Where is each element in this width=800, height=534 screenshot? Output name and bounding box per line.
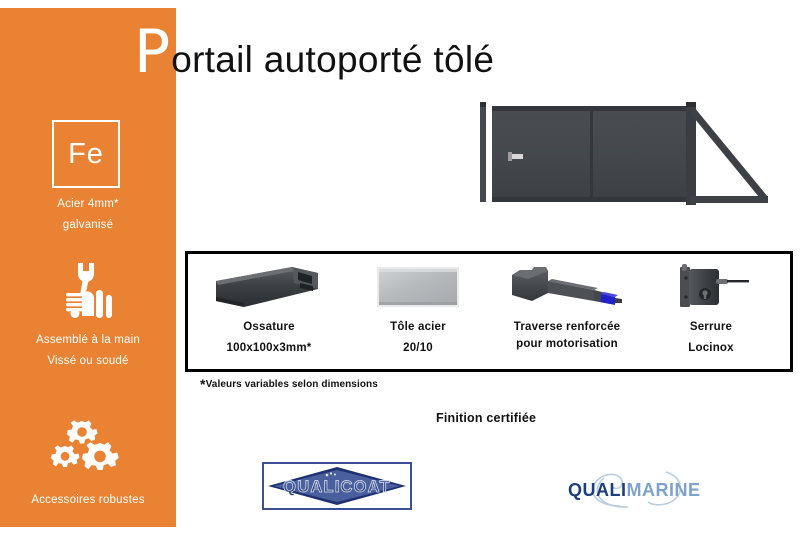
- certification-heading: Finition certifiée: [436, 411, 536, 425]
- page-title: P ortail autoporté tôlé: [134, 22, 494, 84]
- sidebar-feature-accessories: Accessoires robustes: [0, 490, 176, 511]
- qualimarine-text-quali: QUALI: [568, 480, 627, 500]
- product-item-tole-acier: Tôle acier 20/10: [343, 260, 493, 368]
- fe-badge-label: Fe: [54, 122, 118, 186]
- product-spec-tole-acier: 20/10: [343, 341, 493, 356]
- sidebar-feature-assembly: Assemblé à la main Vissé ou soudé: [0, 330, 176, 372]
- sidebar-feature-steel: Acier 4mm* galvanisé: [0, 194, 176, 236]
- product-item-ossature: Ossature 100x100x3mm*: [194, 260, 344, 368]
- hand-wrench-icon: [58, 262, 118, 318]
- steel-sheet-photo: [343, 260, 493, 314]
- sidebar-feature-steel-line1: Acier 4mm*: [0, 194, 176, 215]
- product-spec-serrure: Locinox: [636, 341, 786, 356]
- gears-icon: [48, 420, 128, 482]
- frame-profile-photo: [194, 260, 344, 314]
- product-item-serrure: Serrure Locinox: [636, 260, 786, 368]
- product-item-traverse: Traverse renforcée pour motorisation: [492, 260, 642, 368]
- sidebar-feature-assembly-line1: Assemblé à la main: [0, 330, 176, 351]
- lock-photo: [636, 260, 786, 314]
- footnote-text: Valeurs variables selon dimensions: [206, 379, 378, 390]
- fe-element-box-icon: Fe: [52, 120, 120, 188]
- sidebar-feature-steel-line2: galvanisé: [0, 215, 176, 236]
- page-title-text: ortail autoporté tôlé: [171, 38, 494, 82]
- qualimarine-text-marine: MARINE: [627, 480, 701, 500]
- sliding-gate-illustration: [478, 96, 770, 212]
- qualimarine-wordmark: QUALIMARINE: [568, 480, 701, 501]
- qualimarine-logo: QUALIMARINE: [562, 466, 712, 510]
- svg-text:QUALICOAT: QUALICOAT: [283, 478, 391, 496]
- sidebar-feature-assembly-line2: Vissé ou soudé: [0, 351, 176, 372]
- product-name-traverse-line2: pour motorisation: [492, 337, 642, 352]
- product-name-traverse: Traverse renforcée: [492, 320, 642, 335]
- qualicoat-logo: QUALICOAT: [262, 462, 412, 510]
- reinforced-beam-photo: [492, 260, 642, 314]
- product-spec-ossature: 100x100x3mm*: [194, 341, 344, 356]
- product-panel: Ossature 100x100x3mm* Tôle acier 20/10: [185, 251, 793, 372]
- product-name-ossature: Ossature: [194, 320, 344, 335]
- sidebar-feature-accessories-line1: Accessoires robustes: [0, 490, 176, 511]
- footnote: *Valeurs variables selon dimensions: [200, 379, 378, 390]
- product-name-serrure: Serrure: [636, 320, 786, 335]
- page-title-drop-cap: P: [134, 22, 170, 82]
- product-name-tole-acier: Tôle acier: [343, 320, 493, 335]
